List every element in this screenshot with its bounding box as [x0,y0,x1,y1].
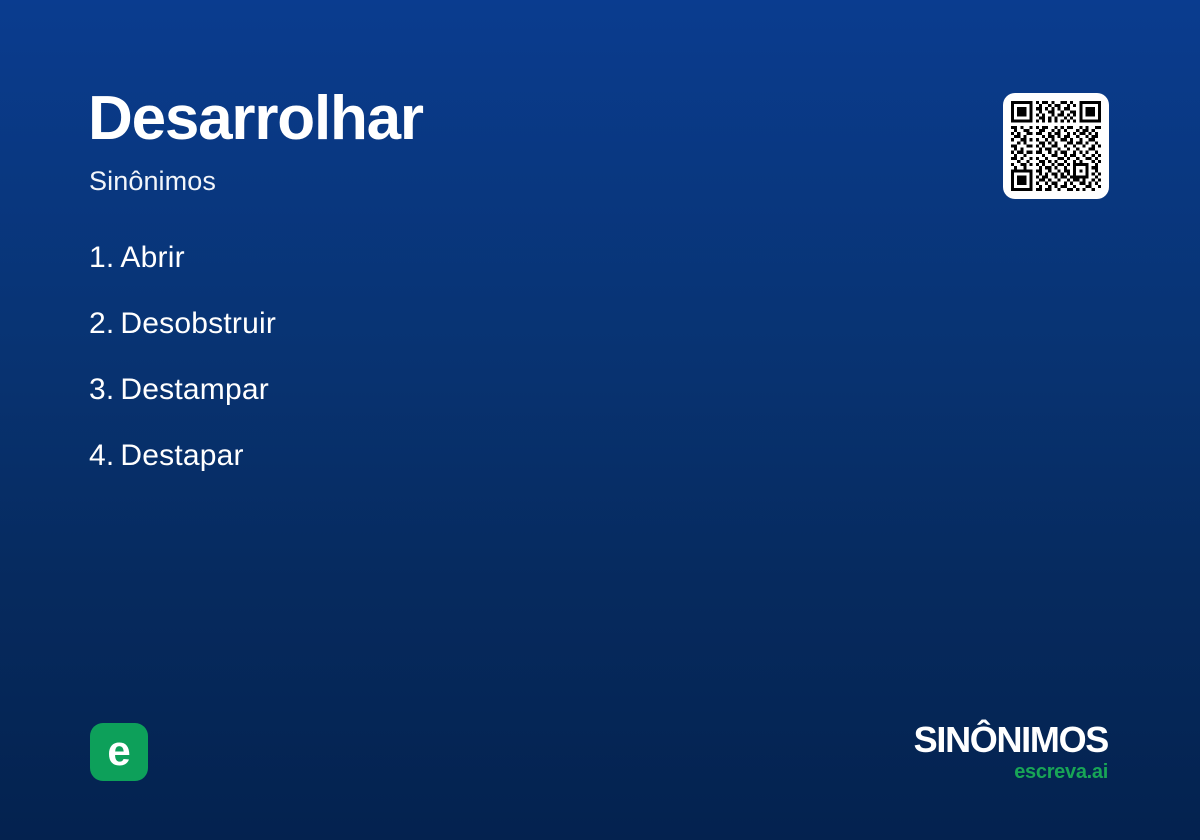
list-item-label: Desobstruir [120,307,276,340]
page-title: Desarrolhar [88,88,423,150]
brand-lockup[interactable]: SINÔNIMOS escreva.ai [914,722,1108,782]
list-item-number: 1. [89,241,114,274]
list-item-number: 4. [89,439,114,472]
list-item-label: Abrir [120,241,184,274]
escreva-logo-letter: e [90,723,148,781]
list-item: 1.Abrir [89,238,709,304]
list-item-number: 3. [89,373,114,406]
list-item: 3.Destampar [89,370,709,436]
list-item-number: 2. [89,307,114,340]
brand-name: SINÔNIMOS [914,722,1108,758]
list-item: 2.Desobstruir [89,304,709,370]
list-item: 4.Destapar [89,436,709,502]
escreva-e-logo-icon[interactable]: e [90,723,148,781]
brand-domain: escreva.ai [914,762,1108,782]
qr-code-card[interactable] [1003,93,1109,199]
page-subtitle: Sinônimos [89,168,216,195]
synonym-list: 1.Abrir 2.Desobstruir 3.Destampar 4.Dest… [89,238,709,502]
list-item-label: Destapar [120,439,243,472]
qr-code-icon [1011,101,1101,191]
list-item-label: Destampar [120,373,269,406]
